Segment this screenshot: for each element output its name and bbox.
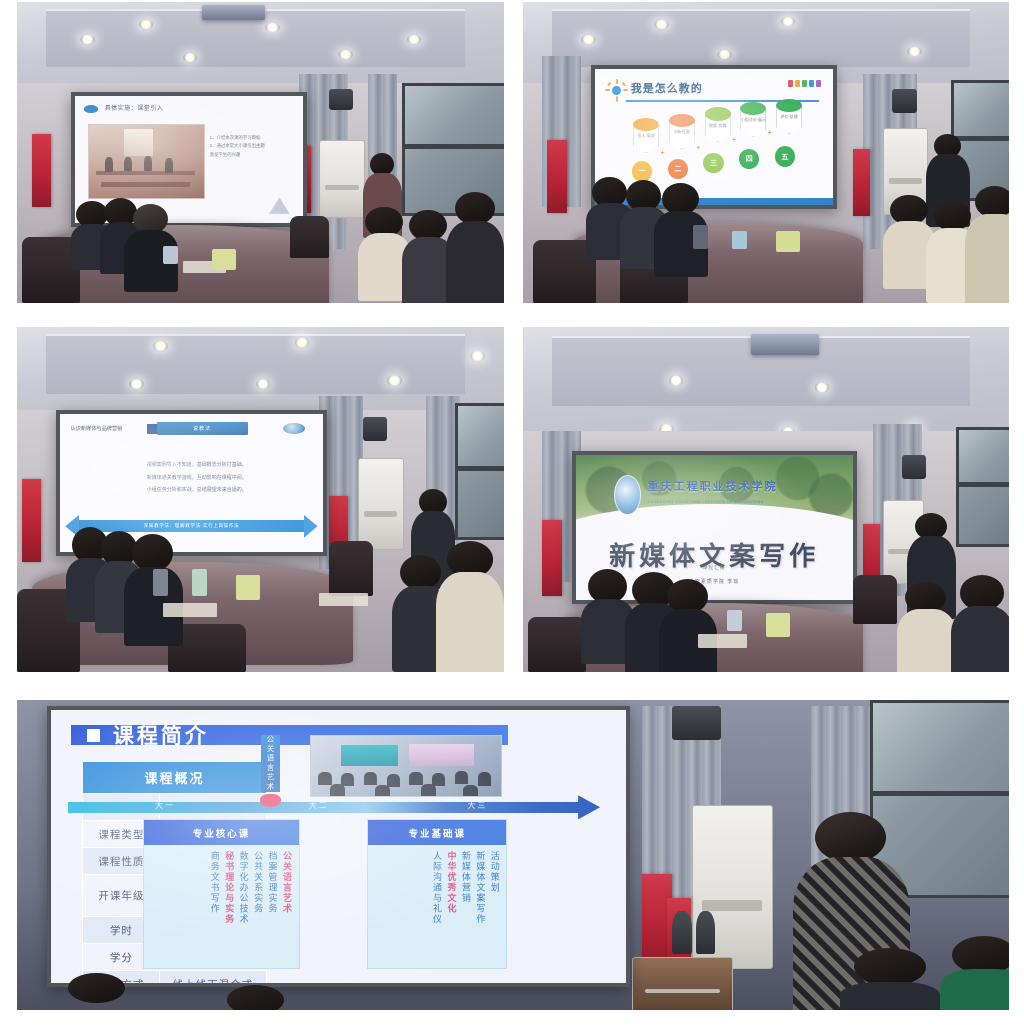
step-marker: 三 (703, 153, 723, 173)
course-columns: 活动策划 新媒体文案写作 新媒体营销 中华优秀文化 人际沟通与礼仪 (374, 850, 501, 962)
cup (727, 610, 742, 631)
group-title: 专业核心课 (144, 820, 299, 845)
panel-1-classroom-photo[interactable]: 具体实施：课堂引入 1、介绍本次课的学习目标 2、通过本堂大小课引出主题 (17, 2, 504, 303)
downlight-icon (581, 35, 596, 44)
sun-core (612, 86, 620, 95)
thermos (693, 225, 708, 249)
student-row (409, 772, 422, 785)
student-figure (165, 158, 173, 173)
panel-4-classroom-photo[interactable]: 重庆工程职业技术学院 CHONGQING VOCATIONAL INSTITUT… (523, 327, 1009, 672)
timeline-year-2: 大二 (309, 800, 329, 811)
slide-3-tab: 说教法 (157, 422, 248, 435)
college-name-en: CHONGQING VOCATIONAL INSTITUTE OF ENGINE… (648, 500, 764, 504)
course-classroom-thumbnail (310, 735, 502, 797)
attendee (446, 192, 504, 303)
window (455, 403, 504, 540)
document (163, 603, 217, 617)
snack-box (212, 249, 236, 270)
slide-3-line: 小组任务分析和实战，总结展望未来合适的。 (97, 484, 297, 497)
timeline-year-1: 大一 (155, 800, 175, 811)
downlight-icon (387, 375, 402, 385)
attendee (659, 579, 717, 672)
document (698, 634, 747, 648)
student-row (421, 784, 436, 797)
brand-logo-icon (84, 105, 99, 113)
student-row (387, 774, 400, 787)
slide-1-title: 具体实施：课堂引入 (105, 103, 164, 112)
downlight-icon (265, 23, 280, 32)
color-dots (788, 80, 821, 87)
college-badge-icon (283, 423, 305, 434)
torso (840, 982, 939, 1010)
slide-3-lead: 认识新媒体与品牌营销 (70, 425, 122, 432)
step-marker: 二 (668, 159, 688, 179)
bullet-square-icon (87, 729, 100, 742)
college-name: 重庆工程职业技术学院 (648, 478, 778, 494)
attendee (940, 936, 1009, 1010)
cup (163, 246, 178, 264)
red-flag (542, 520, 561, 596)
slide-1-bullet: 激发学生的兴趣 (210, 151, 295, 159)
course-group-core: 专业核心课 公关语言艺术 档案管理实务 公共关系实务 数字化办公技术 秘书理论与… (143, 819, 300, 968)
ceiling-projector (202, 5, 265, 20)
course-group-foundation: 专业基础课 活动策划 新媒体文案写作 新媒体营销 中华优秀文化 人际沟通与礼仪 (367, 819, 507, 968)
step-chevron: 小组讨论·展示 (740, 102, 766, 137)
downlight-icon (129, 379, 144, 389)
plus-icon: + (661, 150, 665, 157)
step-marker: 一 (632, 161, 652, 181)
thumb-screen-right (409, 744, 474, 766)
plus-icon: + (732, 137, 736, 144)
torso (446, 221, 504, 303)
chevron-cap (705, 107, 731, 120)
course-item: 新媒体营销 (458, 850, 471, 962)
snack-box (776, 231, 800, 252)
course-vertical-label: 公关语言艺术 (261, 735, 281, 792)
attendee (436, 541, 504, 672)
downlight-icon (80, 35, 95, 44)
step-marker: 四 (739, 149, 759, 169)
student-figure (124, 157, 132, 172)
student-row (463, 785, 478, 797)
slide-2-title: 我是怎么教的 (631, 80, 703, 96)
course-item: 新媒体文案写作 (473, 850, 486, 962)
student-row (330, 784, 345, 797)
wall-speaker (902, 455, 926, 479)
slide-1-watermark-icon (269, 197, 290, 213)
panel-2-classroom-photo[interactable]: 我是怎么教的 引入·导学 (523, 2, 1009, 303)
step-label: 评价·反馈 (776, 114, 802, 120)
panel-5-classroom-photo[interactable]: 课程简介 课程概况 课程名称 公关语言艺术 课程类型 (17, 700, 1009, 1010)
downlight-icon (669, 375, 684, 385)
microphone-icon (696, 911, 716, 954)
ceiling-recess (552, 9, 970, 67)
red-flag (22, 479, 41, 562)
slide-3-body: 视频案例导入不知道，基础概念分析打基础。 新媒体通关教学游戏，互动影响在课程中间… (97, 459, 297, 497)
photo-collage: 具体实施：课堂引入 1、介绍本次课的学习目标 2、通过本堂大小课引出主题 (0, 0, 1024, 1026)
torso (940, 969, 1009, 1010)
dot-green (802, 80, 807, 87)
step-label: 分析任务 (669, 129, 695, 135)
student-row (432, 773, 445, 786)
microphone-icon (672, 911, 692, 954)
curriculum-timeline-axis: 大一 大二 大三 (68, 802, 580, 813)
attendee (897, 582, 955, 672)
podium (632, 957, 733, 1010)
attendee (57, 973, 136, 1010)
chair (853, 575, 897, 623)
wall-speaker (363, 417, 387, 441)
ceiling-projector (751, 334, 819, 355)
slide-1-bullet: 2、通过本堂大小课引出主题 (210, 142, 295, 150)
attendee (951, 575, 1009, 672)
chair (528, 617, 586, 672)
group-title: 专业基础课 (368, 820, 506, 845)
attendee (840, 948, 939, 1010)
desk-row (101, 182, 190, 186)
head (68, 973, 125, 1003)
whiteboard (124, 129, 154, 155)
plus-icon: + (696, 145, 700, 152)
course-item: 公关语言艺术 (280, 850, 293, 962)
slide-1-bullet: 1、介绍本次课的学习目标 (210, 134, 295, 142)
course-item: 活动策划 (487, 850, 500, 962)
head (854, 948, 925, 986)
bottle (192, 569, 207, 597)
course-columns: 公关语言艺术 档案管理实务 公共关系实务 数字化办公技术 秘书理论与实务 商务文… (150, 850, 293, 962)
slide-5-title: 课程简介 (113, 720, 209, 750)
downlight-icon (907, 47, 922, 56)
step-chevron: 探索·实践 (705, 107, 731, 142)
student-row (375, 785, 390, 797)
course-item: 秘书理论与实务 (222, 850, 235, 962)
student-row (318, 772, 331, 785)
downlight-icon (781, 17, 796, 26)
slide-3-line: 视频案例导入不知道，基础概念分析打基础。 (97, 459, 297, 472)
student-figure (144, 156, 152, 171)
snack-box (236, 575, 260, 599)
snack-box (766, 613, 790, 637)
dot-orange (795, 80, 800, 87)
step-marker: 五 (775, 146, 795, 166)
wall-speaker (672, 706, 722, 740)
slide-1-header: 具体实施：课堂引入 (84, 103, 295, 117)
red-flag (853, 149, 870, 215)
step-label: 引入·导学 (633, 133, 659, 139)
chair (329, 541, 373, 596)
attendee (215, 985, 294, 1010)
course-item: 公共关系实务 (251, 850, 264, 962)
course-item: 档案管理实务 (265, 850, 278, 962)
thermos (153, 569, 168, 597)
sun-icon (607, 80, 626, 100)
step-chevron: 分析任务 (669, 114, 695, 149)
downlight-icon (654, 20, 669, 29)
table-caption: 课程概况 (83, 762, 266, 794)
student-figure (105, 157, 113, 172)
course-item: 人际沟通与礼仪 (430, 850, 443, 962)
plus-icon: + (768, 130, 772, 137)
step-label: 小组讨论·展示 (740, 117, 766, 123)
student-row (341, 773, 354, 786)
panel-3-classroom-photo[interactable]: 认识新媒体与品牌营销 说教法 视频案例导入不知道，基础概念分析打基础。 新媒体通… (17, 327, 504, 672)
slide-5: 课程简介 课程概况 课程名称 公关语言艺术 课程类型 (51, 710, 626, 983)
torso (897, 609, 955, 672)
document (319, 593, 368, 607)
projection-screen: 课程简介 课程概况 课程名称 公关语言艺术 课程类型 (47, 706, 630, 987)
torso (951, 606, 1009, 672)
timeline-year-3: 大三 (467, 800, 487, 811)
cup (732, 231, 747, 249)
torso (965, 214, 1009, 303)
dot-blue (809, 80, 814, 87)
step-chevron: 评价·反馈 (776, 99, 802, 134)
slide-1-bullets: 1、介绍本次课的学习目标 2、通过本堂大小课引出主题 激发学生的兴趣 (210, 134, 295, 158)
red-flag (547, 140, 566, 212)
slide-1-embedded-photo (88, 124, 204, 199)
downlight-icon (295, 337, 310, 347)
thumb-screen-left (341, 745, 398, 765)
course-item: 中华优秀文化 (444, 850, 457, 962)
step-chevron: 引入·导学 (633, 118, 659, 153)
course-item: 商务文书写作 (207, 850, 220, 962)
red-flag (32, 134, 51, 206)
attendee (965, 186, 1009, 303)
window (956, 427, 1009, 547)
wall-speaker (329, 89, 353, 110)
downlight-icon (815, 382, 830, 392)
slide-3-header: 认识新媒体与品牌营销 说教法 (70, 422, 309, 439)
course-item: 数字化办公技术 (236, 850, 249, 962)
chair (290, 216, 329, 258)
downlight-icon (153, 341, 168, 351)
air-conditioner-cabinet (358, 458, 404, 550)
wall-speaker (892, 89, 916, 113)
downlight-icon (470, 351, 485, 361)
dot-red (788, 80, 793, 87)
torso (436, 572, 504, 672)
student-row (478, 772, 491, 785)
slide-3-line: 新媒体通关教学游戏，互动影响在课程中间。 (97, 472, 297, 485)
head (815, 812, 886, 864)
dot-purple (816, 80, 821, 87)
student-row (364, 772, 377, 785)
step-label: 探索·实践 (705, 123, 731, 129)
head (227, 985, 284, 1010)
student-row (455, 771, 468, 784)
